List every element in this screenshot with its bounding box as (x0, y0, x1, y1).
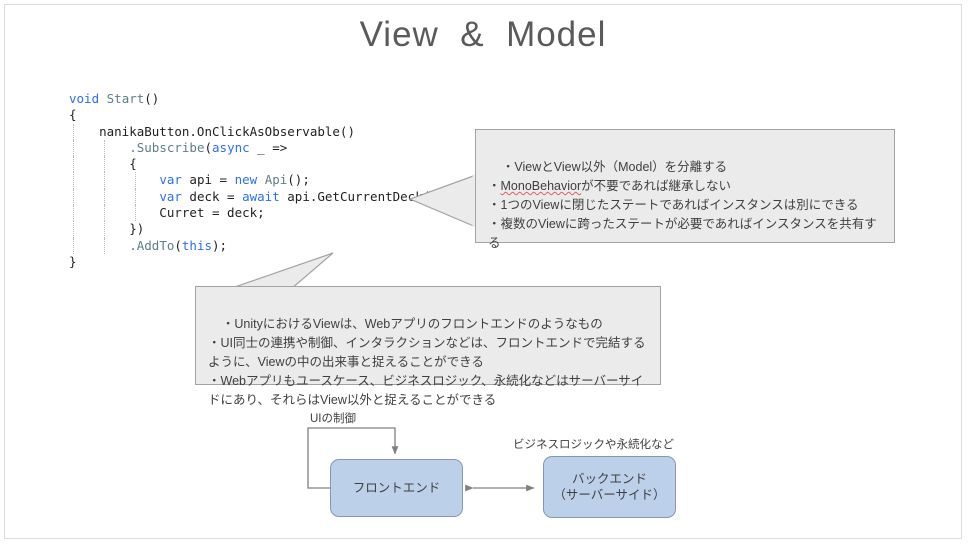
edge-label-business-logic: ビジネスロジックや永続化など (513, 436, 674, 452)
slide-canvas: View & Model void Start(){ nanikaButton.… (4, 4, 962, 539)
diagram-node-frontend: フロントエンド (330, 459, 463, 517)
diagram-node-backend: バックエンド （サーバーサイド） (543, 456, 676, 518)
edge-label-ui-control: UIの制御 (310, 410, 356, 426)
architecture-diagram (5, 5, 962, 539)
